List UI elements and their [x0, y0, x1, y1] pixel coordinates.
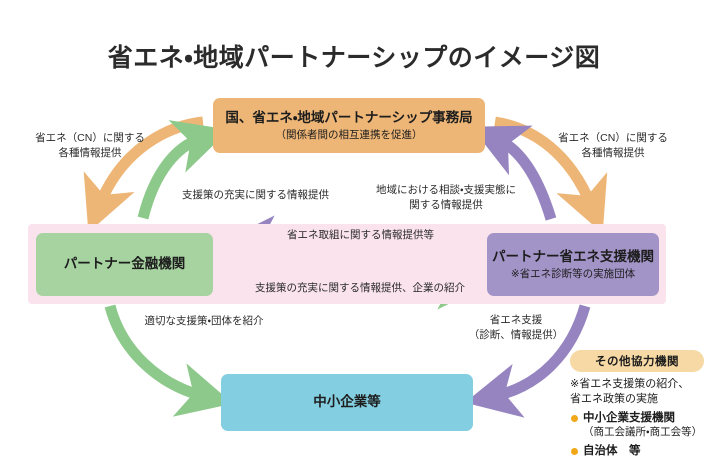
legend-item-label: 中小企業支援機関	[583, 411, 675, 426]
legend-note: ※省エネ支援策の紹介、 省エネ政策の実施	[570, 377, 704, 407]
node-partner-financial-institution[interactable]: パートナー金融機関	[36, 233, 213, 296]
legend-item: 自治体 等	[570, 444, 704, 459]
node-secretariat-subtitle: （関係者間の相互連携を促進）	[276, 129, 423, 143]
caption-inner-right: 地域における相談・支援実態に 関する情報提供	[364, 183, 528, 213]
caption-arrow-upper: 省エネ取組に関する情報提供等	[258, 228, 463, 243]
node-secretariat-title: 国、省エネ・地域パートナーシップ事務局	[225, 109, 472, 127]
node-small-medium-enterprises[interactable]: 中小企業等	[221, 374, 473, 431]
node-secretariat[interactable]: 国、省エネ・地域パートナーシップ事務局 （関係者間の相互連携を促進）	[213, 98, 485, 153]
node-sme-title: 中小企業等	[313, 393, 381, 411]
node-finance-title: パートナー金融機関	[64, 255, 186, 273]
caption-right-top: 省エネ（CN）に関する 各種情報提供	[538, 131, 688, 161]
caption-right-bottom: 省エネ支援 （診断、情報提供）	[456, 313, 576, 343]
node-partner-energy-support-organization[interactable]: パートナー省エネ支援機関 ※省エネ診断等の実施団体	[487, 233, 659, 296]
diagram-canvas: 省エネ・地域パートナーシップのイメージ図 国、省エネ・地域パートナーシップ事務局…	[0, 0, 708, 475]
legend-item: 中小企業支援機関	[570, 411, 704, 426]
legend-header: その他協力機関	[570, 350, 704, 372]
bullet-dot-icon	[571, 448, 578, 455]
legend-other-cooperating-organizations: その他協力機関 ※省エネ支援策の紹介、 省エネ政策の実施 中小企業支援機関 （商…	[570, 350, 704, 459]
page-title: 省エネ・地域パートナーシップのイメージ図	[0, 38, 708, 74]
node-support-subtitle: ※省エネ診断等の実施団体	[511, 268, 635, 282]
caption-inner-left: 支援策の充実に関する情報提供	[163, 188, 348, 203]
caption-left-top: 省エネ（CN）に関する 各種情報提供	[22, 131, 158, 161]
caption-left-bottom: 適切な支援策・団体を紹介	[128, 314, 280, 329]
node-support-title: パートナー省エネ支援機関	[492, 248, 654, 266]
legend-item-sub: （商工会議所・商工会等）	[583, 426, 704, 440]
bullet-dot-icon	[571, 415, 578, 422]
caption-arrow-lower: 支援策の充実に関する情報提供、企業の紹介	[230, 281, 490, 296]
legend-item-label: 自治体 等	[583, 444, 641, 459]
